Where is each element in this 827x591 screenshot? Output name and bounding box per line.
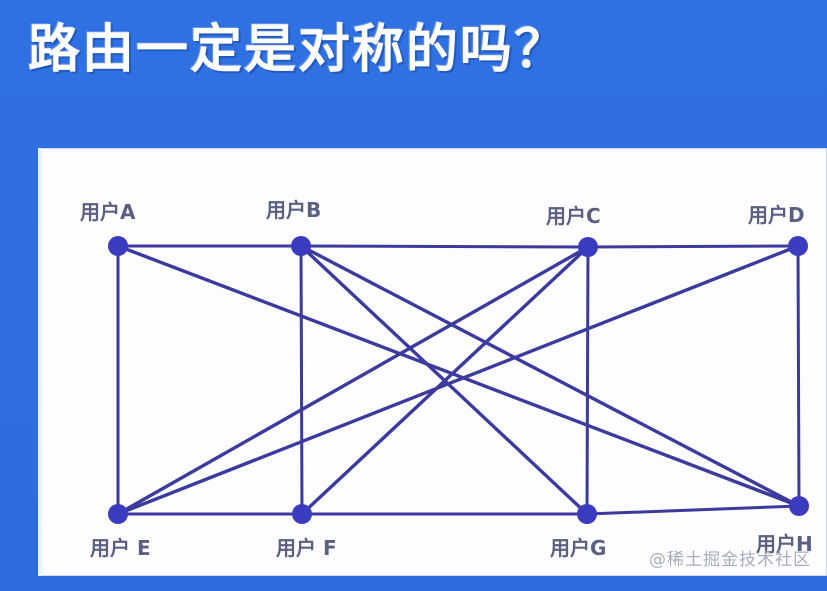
node-label-g: 用户G [550,532,606,561]
node-label-c: 用户C [546,200,601,229]
slide-background: 路由一定是对称的吗？ 用户A用户B用户C用户D用户 E用户 F用户G用户H @稀… [0,0,827,591]
node-b[interactable] [291,236,311,256]
node-label-f: 用户 F [276,532,337,561]
edge-b-f [301,246,302,514]
edge-b-c [301,246,588,247]
edge-c-e [118,247,588,514]
node-d[interactable] [788,236,808,256]
edge-g-h [587,506,799,514]
node-h[interactable] [789,496,809,516]
diagram-card: 用户A用户B用户C用户D用户 E用户 F用户G用户H @稀土掘金技术社区 [38,148,827,576]
edge-c-g [587,247,588,514]
watermark: @稀土掘金技术社区 [649,545,811,570]
node-g[interactable] [577,504,597,524]
node-e[interactable] [108,504,128,524]
node-c[interactable] [578,237,598,257]
node-f[interactable] [292,504,312,524]
node-a[interactable] [108,236,128,256]
network-topology-graph [38,148,827,576]
edge-c-d [588,246,798,247]
edge-d-h [798,246,799,506]
node-label-a: 用户A [80,196,135,225]
edge-b-h [301,246,799,506]
edge-layer [118,246,799,514]
node-label-e: 用户 E [90,532,151,561]
node-label-d: 用户D [748,199,805,228]
node-label-b: 用户B [266,194,321,223]
page-title: 路由一定是对称的吗？ [28,22,568,79]
